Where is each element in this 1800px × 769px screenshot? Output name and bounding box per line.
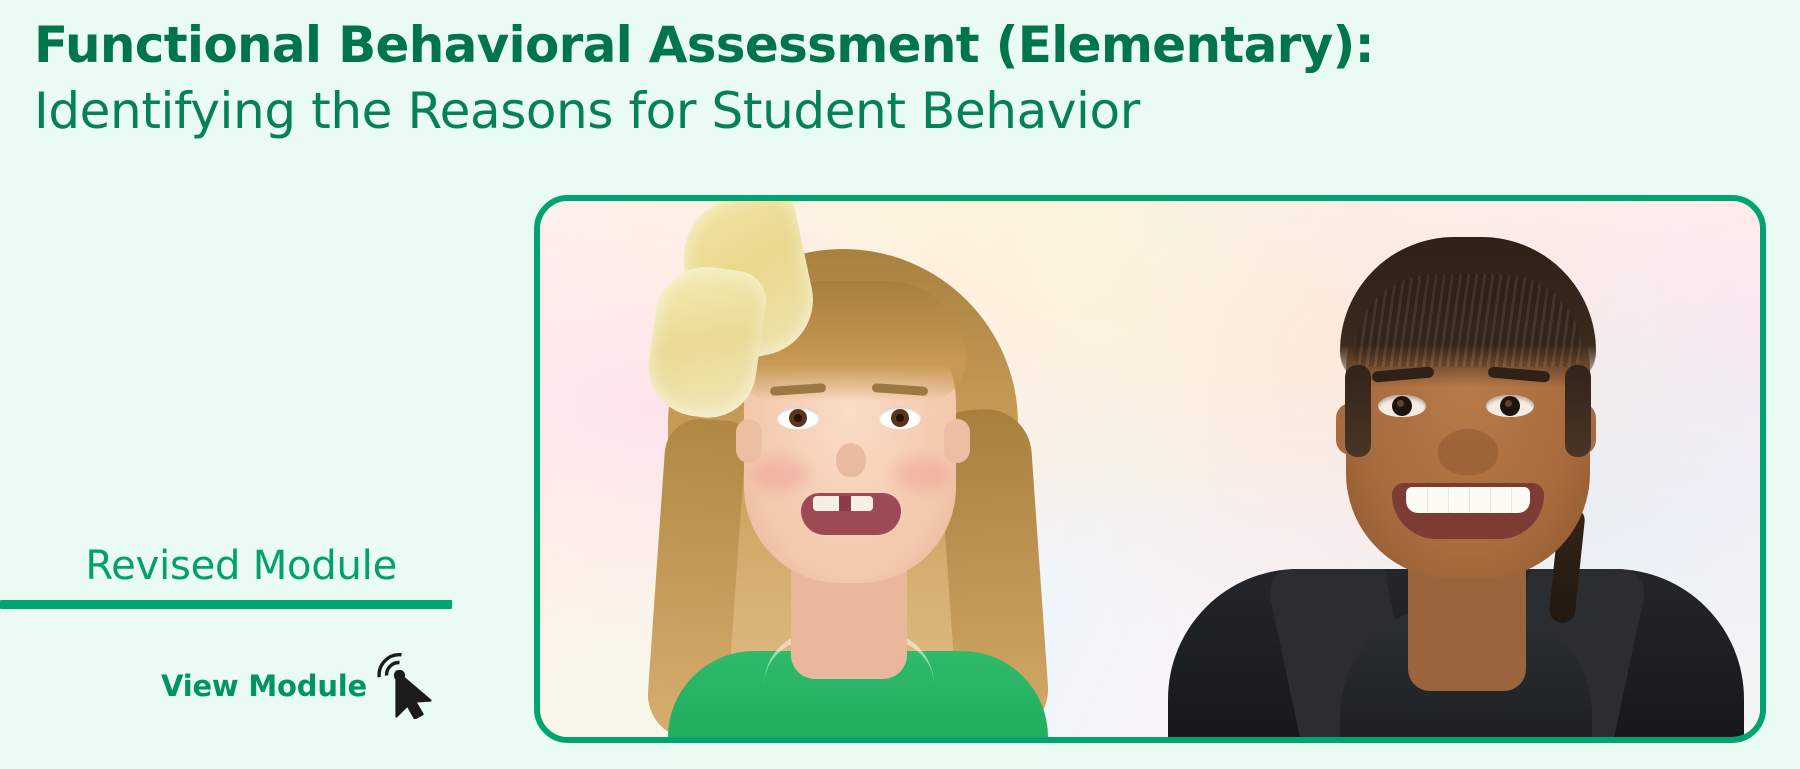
photo-inner (540, 201, 1760, 737)
view-module-label: View Module (161, 669, 367, 703)
module-photo[interactable] (534, 195, 1766, 743)
title-line-secondary: Identifying the Reasons for Student Beha… (34, 78, 1454, 144)
girl-student-figure (548, 201, 1148, 737)
title-line-primary: Functional Behavioral Assessment (Elemen… (34, 12, 1454, 78)
revised-module-label: Revised Module (0, 540, 455, 592)
page-title: Functional Behavioral Assessment (Elemen… (34, 12, 1454, 144)
divider-rule (0, 600, 452, 609)
click-cursor-icon (377, 653, 435, 719)
boy-student-figure (1140, 201, 1760, 737)
module-promo-banner: Functional Behavioral Assessment (Elemen… (0, 0, 1800, 769)
view-module-button[interactable]: View Module (0, 653, 455, 719)
cta-column: Revised Module View Module (0, 540, 455, 719)
